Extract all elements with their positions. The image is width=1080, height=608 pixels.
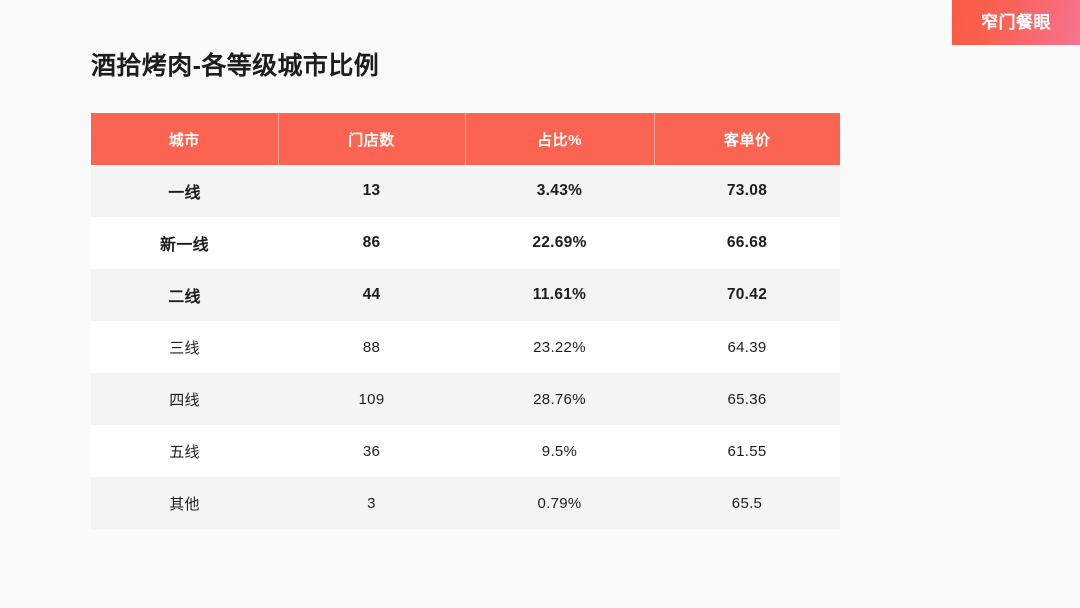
cell-price: 70.42 [654,269,840,321]
column-header-share: 占比% [465,113,654,165]
cell-city: 四线 [91,373,278,425]
brand-badge: 窄门餐眼 [952,0,1080,45]
table-row: 四线10928.76%65.36 [91,373,840,425]
table-body: 一线133.43%73.08新一线8622.69%66.68二线4411.61%… [91,165,840,529]
cell-price: 61.55 [654,425,840,477]
page-title: 酒拾烤肉-各等级城市比例 [91,46,379,82]
city-tier-table: 城市 门店数 占比% 客单价 一线133.43%73.08新一线8622.69%… [91,113,840,529]
cell-stores: 13 [278,165,465,217]
cell-city: 五线 [91,425,278,477]
cell-share: 3.43% [465,165,654,217]
cell-city: 新一线 [91,217,278,269]
cell-city: 二线 [91,269,278,321]
cell-stores: 36 [278,425,465,477]
table-row: 其他30.79%65.5 [91,477,840,529]
column-header-stores: 门店数 [278,113,465,165]
cell-price: 73.08 [654,165,840,217]
cell-price: 65.5 [654,477,840,529]
cell-share: 11.61% [465,269,654,321]
cell-city: 一线 [91,165,278,217]
table-head: 城市 门店数 占比% 客单价 [91,113,840,165]
cell-stores: 109 [278,373,465,425]
brand-badge-label: 窄门餐眼 [981,14,1051,31]
cell-share: 22.69% [465,217,654,269]
cell-share: 23.22% [465,321,654,373]
table-row: 二线4411.61%70.42 [91,269,840,321]
cell-city: 其他 [91,477,278,529]
table-header-row: 城市 门店数 占比% 客单价 [91,113,840,165]
table-row: 三线8823.22%64.39 [91,321,840,373]
cell-stores: 86 [278,217,465,269]
cell-price: 66.68 [654,217,840,269]
column-header-price: 客单价 [654,113,840,165]
cell-city: 三线 [91,321,278,373]
cell-stores: 44 [278,269,465,321]
cell-share: 0.79% [465,477,654,529]
cell-share: 9.5% [465,425,654,477]
table-row: 一线133.43%73.08 [91,165,840,217]
table-row: 五线369.5%61.55 [91,425,840,477]
cell-price: 65.36 [654,373,840,425]
city-tier-table-container: 城市 门店数 占比% 客单价 一线133.43%73.08新一线8622.69%… [91,113,840,529]
cell-share: 28.76% [465,373,654,425]
cell-stores: 88 [278,321,465,373]
cell-stores: 3 [278,477,465,529]
table-row: 新一线8622.69%66.68 [91,217,840,269]
cell-price: 64.39 [654,321,840,373]
column-header-city: 城市 [91,113,278,165]
